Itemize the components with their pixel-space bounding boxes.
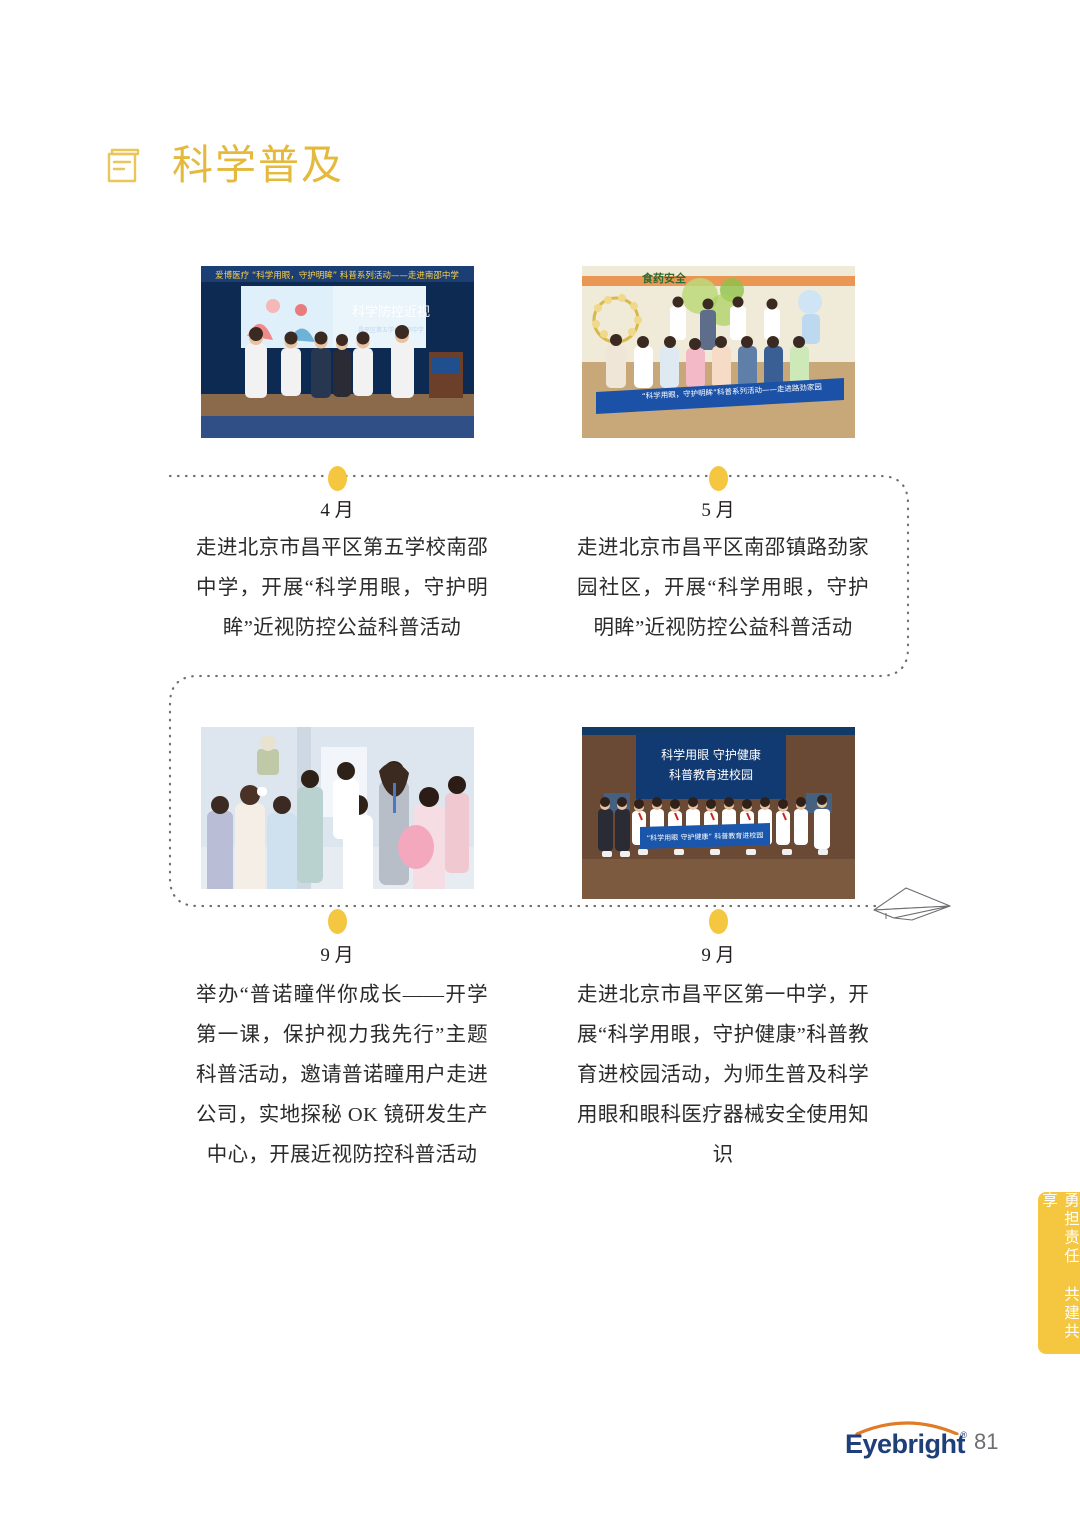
photo-lujin-community-banner: 食药安全	[582, 266, 855, 438]
timeline-marker-4	[709, 909, 728, 934]
event-caption-1: 走进北京市昌平区第五学校南邵中学，开展“科学用眼，守护明眸”近视防控公益科普活动	[196, 528, 488, 648]
logo-wordmark: Eyebright	[845, 1431, 965, 1458]
svg-text:爱博医疗 “科学用眼，守护明眸” 科普系列活动——走进南邵中: 爱博医疗 “科学用眼，守护明眸” 科普系列活动——走进南邵中学	[215, 270, 459, 281]
side-tab: 勇担责任 共建共享	[1038, 1192, 1080, 1354]
timeline-marker-1	[328, 466, 347, 491]
month-label-1: 4 月	[277, 495, 397, 522]
svg-text:科普教育进校园: 科普教育进校园	[669, 767, 753, 782]
side-tab-label: 勇担责任 共建共享	[1037, 1192, 1080, 1354]
event-caption-4: 走进北京市昌平区第一中学，开展“科学用眼，守护健康”科普教育进校园活动，为师生普…	[577, 975, 869, 1175]
page-number: 81	[974, 1429, 998, 1456]
timeline-path	[0, 0, 1080, 1528]
svg-text:科学防控近视: 科学防控近视	[352, 304, 430, 320]
event-caption-3: 举办“普诺瞳伴你成长——开学第一课，保护视力我先行”主题科普活动，邀请普诺瞳用户…	[196, 975, 488, 1175]
page-root: 科学普及 爱博医疗 “科学用眼，守护明眸” 科普系列活动——走进南邵中学 科学防…	[0, 0, 1080, 1528]
section-header: 科学普及	[104, 143, 344, 187]
notebook-icon	[104, 143, 148, 187]
photo-nanshao-middle-school-group: 爱博医疗 “科学用眼，守护明眸” 科普系列活动——走进南邵中学 科学防控近视 昌…	[201, 266, 474, 438]
timeline-marker-2	[709, 466, 728, 491]
svg-text:科学用眼 守护健康: 科学用眼 守护健康	[661, 747, 761, 762]
timeline-marker-3	[328, 909, 347, 934]
page-footer: Eyebright ® 81	[845, 1418, 998, 1456]
logo-registered-mark: ®	[960, 1430, 967, 1440]
photo-factory-tour-children	[201, 727, 474, 899]
photo-changping-no1-school-assembly: 科学用眼 守护健康 科普教育进校园	[582, 727, 855, 899]
event-caption-2: 走进北京市昌平区南邵镇路劲家园社区，开展“科学用眼，守护明眸”近视防控公益科普活…	[577, 528, 869, 648]
month-label-2: 5 月	[658, 495, 778, 522]
page-title: 科学普及	[172, 145, 344, 186]
month-label-3: 9 月	[277, 940, 397, 967]
eyebright-logo: Eyebright ®	[845, 1418, 965, 1456]
month-label-4: 9 月	[658, 940, 778, 967]
svg-text:昌平区第五学校南邵中学: 昌平区第五学校南邵中学	[358, 326, 424, 334]
svg-text:食药安全: 食药安全	[642, 271, 687, 285]
paper-airplane-icon	[874, 888, 950, 920]
